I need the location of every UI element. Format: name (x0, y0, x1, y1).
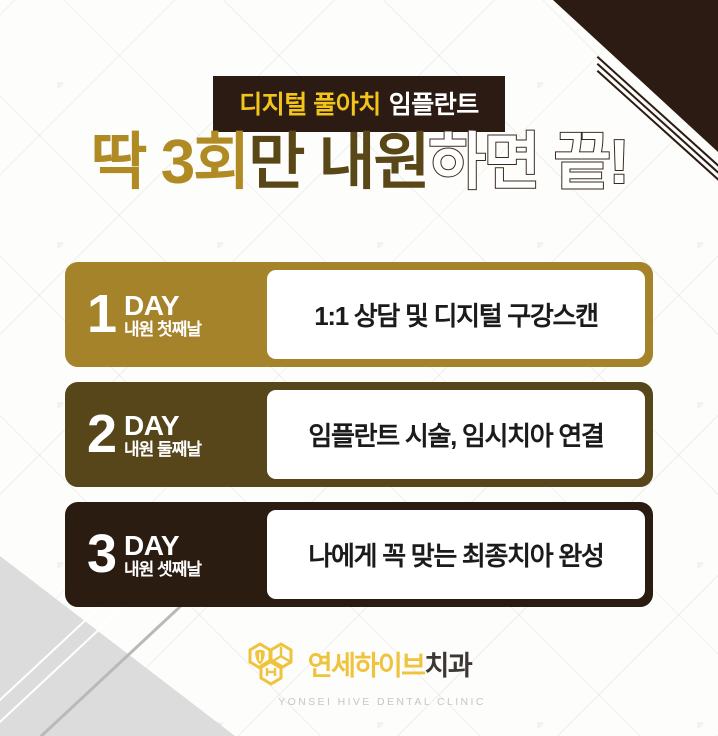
honeycomb-tooth-icon (247, 642, 299, 691)
day-card-3-sub-label: 내원 셋째날 (124, 561, 201, 579)
day-card-3-meta: DAY 내원 셋째날 (124, 531, 201, 579)
logo-tagline: YONSEI HIVE DENTAL CLINIC (278, 696, 486, 708)
day-card-3-number: 3 (87, 530, 115, 580)
day-card-1-description: 1:1 상담 및 디지털 구강스캔 (314, 296, 598, 333)
day-card-1[interactable]: 1 DAY 내원 첫째날 1:1 상담 및 디지털 구강스캔 (65, 262, 653, 367)
day-card-2-right-panel: 임플란트 시술, 임시치아 연결 (267, 390, 645, 479)
day-card-2-sub-label: 내원 둘째날 (124, 441, 201, 459)
day-card-1-left-panel: 1 DAY 내원 첫째날 (67, 264, 267, 365)
badge-normal-text: 임플란트 (389, 85, 479, 121)
day-card-list: 1 DAY 내원 첫째날 1:1 상담 및 디지털 구강스캔 2 DAY 내원 … (65, 262, 653, 622)
logo-name-normal: 치과 (425, 651, 472, 681)
day-card-1-meta: DAY 내원 첫째날 (124, 291, 201, 339)
day-card-1-number: 1 (87, 290, 115, 340)
headline-badge: 디지털 풀아치 임플란트 (213, 76, 504, 132)
day-card-1-day-label: DAY (124, 291, 201, 320)
day-card-3-left-panel: 3 DAY 내원 셋째날 (67, 504, 267, 605)
day-card-2-number: 2 (87, 410, 115, 460)
day-card-2-meta: DAY 내원 둘째날 (124, 411, 201, 459)
badge-container: 디지털 풀아치 임플란트 (0, 76, 718, 132)
logo-name-highlight: 연세하이브 (308, 651, 425, 681)
day-card-3-day-label: DAY (124, 531, 201, 560)
day-card-1-sub-label: 내원 첫째날 (124, 321, 201, 339)
day-card-1-right-panel: 1:1 상담 및 디지털 구강스캔 (267, 270, 645, 359)
main-headline: 딱 3회만 내원하면 끝! (0, 132, 718, 194)
headline-part-1: 딱 3회 (90, 128, 248, 197)
day-card-2[interactable]: 2 DAY 내원 둘째날 임플란트 시술, 임시치아 연결 (65, 382, 653, 487)
headline-part-3: 내원 (318, 128, 428, 197)
logo-row: 연세하이브치과 (247, 642, 471, 691)
headline-part-4: 하면 끝! (429, 128, 628, 197)
day-card-2-day-label: DAY (124, 411, 201, 440)
clinic-logo: 연세하이브치과 YONSEI HIVE DENTAL CLINIC (0, 642, 718, 708)
day-card-2-left-panel: 2 DAY 내원 둘째날 (67, 384, 267, 485)
logo-wordmark: 연세하이브치과 (308, 653, 471, 680)
day-card-3[interactable]: 3 DAY 내원 셋째날 나에게 꼭 맞는 최종치아 완성 (65, 502, 653, 607)
badge-highlight-text: 디지털 풀아치 (239, 85, 380, 121)
day-card-3-right-panel: 나에게 꼭 맞는 최종치아 완성 (267, 510, 645, 599)
day-card-2-description: 임플란트 시술, 임시치아 연결 (308, 416, 603, 453)
day-card-3-description: 나에게 꼭 맞는 최종치아 완성 (308, 536, 603, 573)
poster-canvas: 디지털 풀아치 임플란트 딱 3회만 내원하면 끝! 1 DAY 내원 첫째날 … (0, 0, 718, 736)
headline-part-2: 만 (248, 128, 318, 197)
